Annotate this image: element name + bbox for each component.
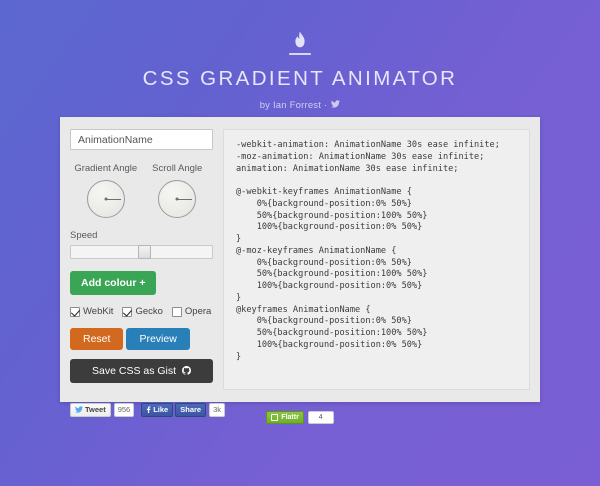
speed-label: Speed — [70, 230, 213, 241]
byline-text: by Ian Forrest · — [260, 100, 328, 111]
flattr-button[interactable]: Flattr — [266, 411, 304, 424]
app-card: Gradient Angle Scroll Angle Speed Add co… — [60, 117, 540, 402]
checkbox-gecko-box[interactable] — [122, 307, 132, 317]
checkbox-webkit-box[interactable] — [70, 307, 80, 317]
flattr-label: Flattr — [281, 414, 299, 421]
page-header: CSS GRADIENT ANIMATOR by Ian Forrest · — [0, 0, 600, 111]
save-gist-label: Save CSS as Gist — [92, 365, 176, 377]
checkbox-opera[interactable]: Opera — [172, 306, 211, 317]
page-title: CSS GRADIENT ANIMATOR — [0, 67, 600, 91]
checkbox-gecko-label: Gecko — [135, 306, 162, 317]
angle-dials: Gradient Angle Scroll Angle — [70, 163, 213, 218]
checkbox-opera-box[interactable] — [172, 307, 182, 317]
logo-underline — [289, 53, 311, 55]
controls-panel: Gradient Angle Scroll Angle Speed Add co… — [60, 117, 223, 402]
checkbox-webkit-label: WebKit — [83, 306, 113, 317]
twitter-bird-icon[interactable] — [331, 100, 340, 111]
css-output-code: -webkit-animation: AnimationName 30s eas… — [236, 140, 517, 364]
animation-name-input[interactable] — [70, 129, 213, 150]
gradient-angle-dial[interactable] — [87, 180, 125, 218]
checkbox-webkit[interactable]: WebKit — [70, 306, 113, 317]
prefix-checkbox-row: WebKit Gecko Opera — [70, 306, 213, 317]
flame-icon — [292, 31, 308, 51]
byline: by Ian Forrest · — [0, 100, 600, 111]
reset-button[interactable]: Reset — [70, 328, 123, 350]
scroll-angle-needle — [177, 199, 192, 200]
scroll-angle-center-dot — [176, 198, 179, 201]
css-output-panel[interactable]: -webkit-animation: AnimationName 30s eas… — [223, 129, 530, 390]
save-gist-button[interactable]: Save CSS as Gist — [70, 359, 213, 383]
scroll-angle-group: Scroll Angle — [144, 163, 210, 218]
preview-button[interactable]: Preview — [126, 328, 189, 350]
flattr-icon — [271, 414, 278, 421]
checkbox-opera-label: Opera — [185, 306, 211, 317]
flattr-widget: Flattr 4 — [266, 410, 333, 425]
checkbox-gecko[interactable]: Gecko — [122, 306, 162, 317]
speed-slider[interactable] — [70, 245, 213, 259]
gradient-angle-center-dot — [104, 198, 107, 201]
gradient-angle-group: Gradient Angle — [73, 163, 139, 218]
logo — [0, 28, 600, 58]
flattr-count: 4 — [308, 411, 334, 424]
scroll-angle-label: Scroll Angle — [144, 163, 210, 174]
github-octocat-icon — [182, 366, 191, 375]
action-button-row: Reset Preview — [70, 328, 213, 350]
add-colour-button[interactable]: Add colour + — [70, 271, 156, 295]
gradient-angle-label: Gradient Angle — [73, 163, 139, 174]
gradient-angle-needle — [106, 199, 121, 200]
flattr-bar: Flattr 4 — [0, 410, 600, 425]
speed-slider-handle[interactable] — [138, 245, 151, 259]
scroll-angle-dial[interactable] — [158, 180, 196, 218]
